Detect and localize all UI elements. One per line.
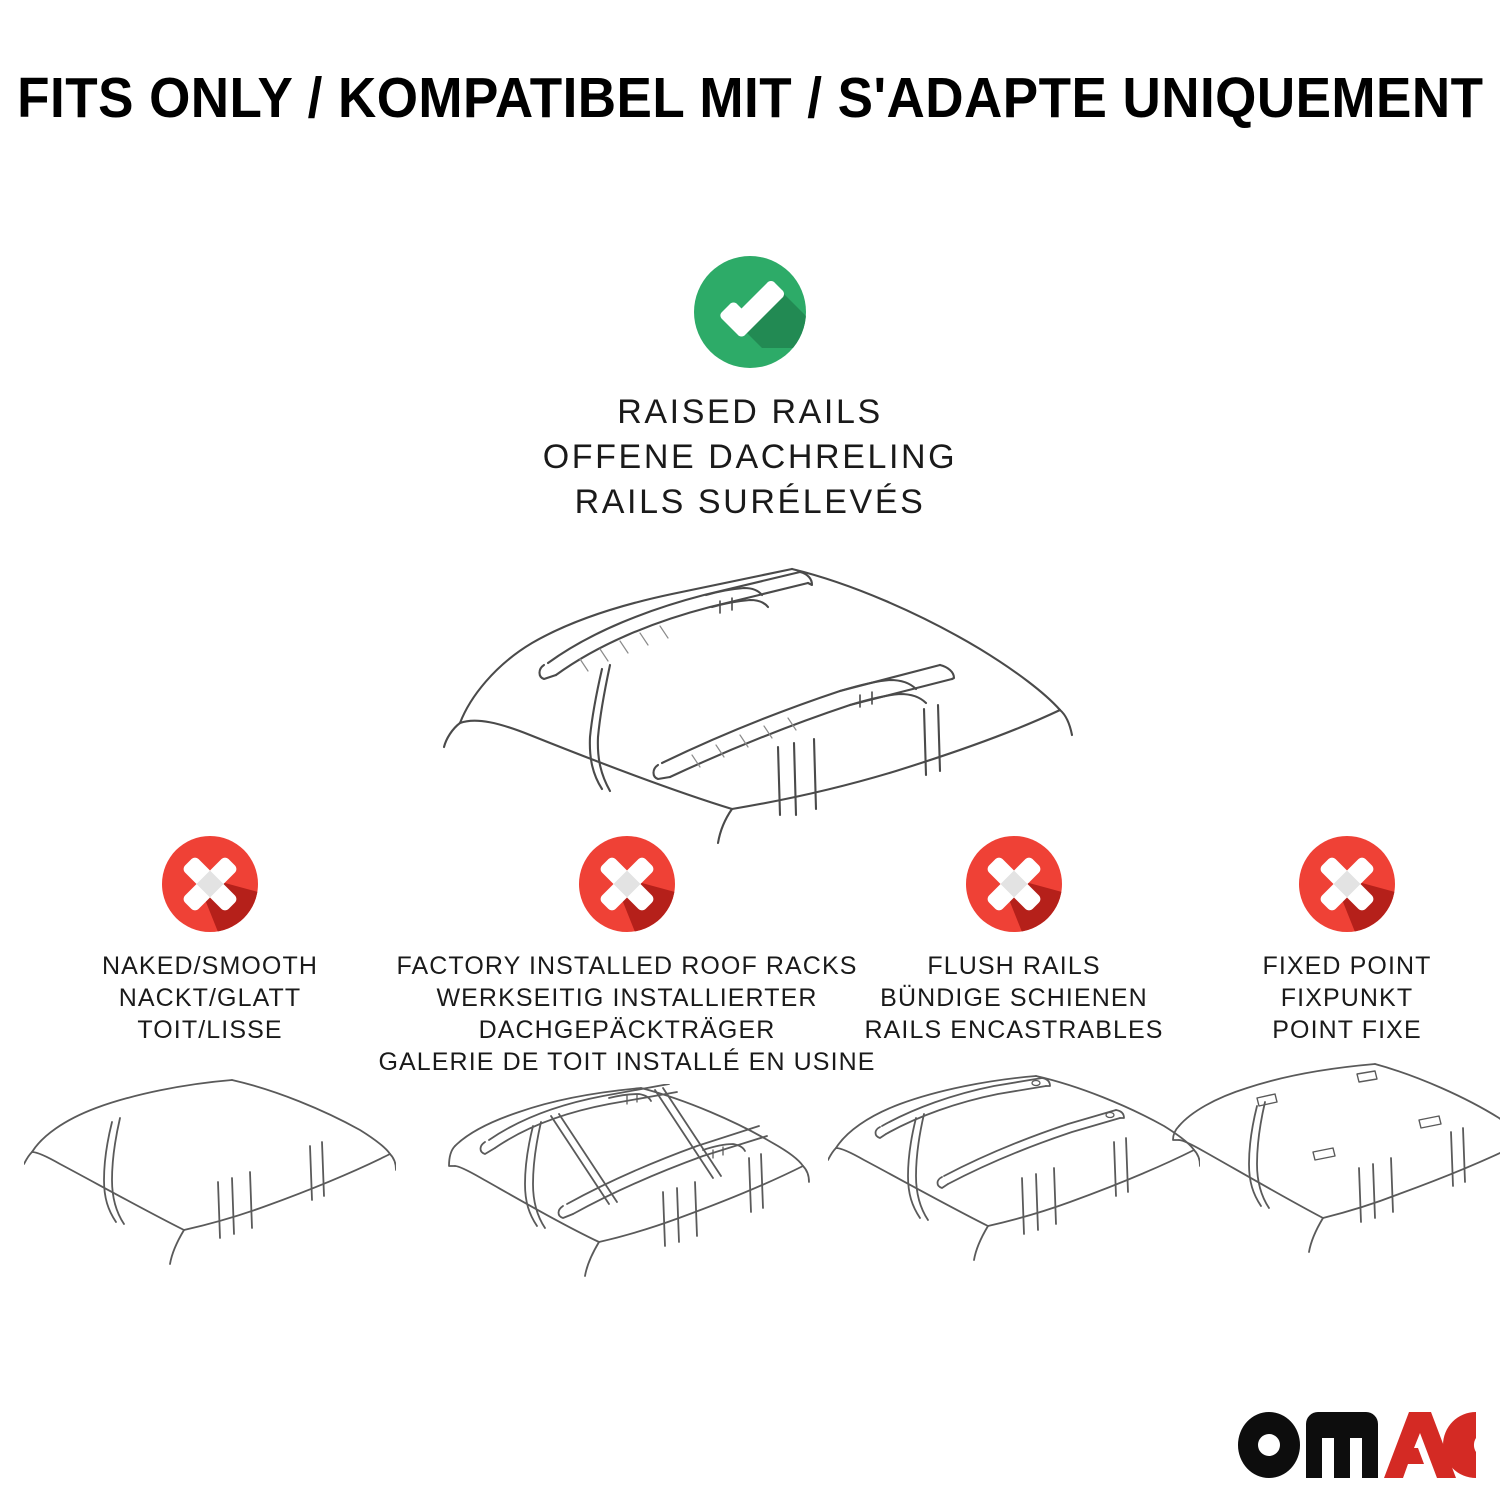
green-check-circle-icon [694,256,806,368]
incompatible-item-naked-smooth: NAKED/SMOOTH NACKT/GLATT TOIT/LISSE [0,836,420,1310]
label-en: FLUSH RAILS [864,950,1163,982]
header-banner: FITS ONLY / KOMPATIBEL MIT / S'ADAPTE UN… [0,0,1500,196]
fixed-point-labels: FIXED POINT FIXPUNKT POINT FIXE [1262,950,1431,1054]
factory-roof-rack-labels: FACTORY INSTALLED ROOF RACKS WERKSEITIG … [378,950,875,1078]
red-x-circle-icon [966,836,1062,932]
page-title: FITS ONLY / KOMPATIBEL MIT / S'ADAPTE UN… [17,65,1483,131]
compatible-label-en: RAISED RAILS [543,390,957,435]
car-roof-fixed-point-illustration [1171,1060,1500,1286]
label-de: NACKT/GLATT [102,982,318,1014]
compatible-label-fr: RAILS SURÉLEVÉS [543,480,957,525]
label-fr: TOIT/LISSE [102,1014,318,1046]
label-de-line1: WERKSEITIG INSTALLIERTER [378,982,875,1014]
omac-logo [1238,1412,1476,1478]
red-x-circle-icon [579,836,675,932]
incompatible-item-fixed-point: FIXED POINT FIXPUNKT POINT FIXE [1194,836,1500,1310]
label-fr: GALERIE DE TOIT INSTALLÉ EN USINE [378,1046,875,1078]
flush-rails-labels: FLUSH RAILS BÜNDIGE SCHIENEN RAILS ENCAS… [864,950,1163,1054]
incompatible-section: NAKED/SMOOTH NACKT/GLATT TOIT/LISSE [0,836,1500,1310]
label-de: BÜNDIGE SCHIENEN [864,982,1163,1014]
car-roof-with-raised-rails-illustration [420,547,1080,847]
label-de-line2: DACHGEPÄCKTRÄGER [378,1014,875,1046]
label-de: FIXPUNKT [1262,982,1431,1014]
label-fr: POINT FIXE [1262,1014,1431,1046]
incompatible-item-factory-roof-rack: FACTORY INSTALLED ROOF RACKS WERKSEITIG … [420,836,834,1310]
car-roof-factory-roof-rack-illustration [441,1084,813,1310]
compatible-labels: RAISED RAILS OFFENE DACHRELING RAILS SUR… [543,390,957,525]
car-roof-naked-smooth-illustration [24,1060,396,1286]
red-x-circle-icon [1299,836,1395,932]
compatible-section: RAISED RAILS OFFENE DACHRELING RAILS SUR… [0,256,1500,847]
label-en: FACTORY INSTALLED ROOF RACKS [378,950,875,982]
label-en: FIXED POINT [1262,950,1431,982]
label-en: NAKED/SMOOTH [102,950,318,982]
red-x-circle-icon [162,836,258,932]
car-roof-flush-rails-illustration [828,1060,1200,1286]
incompatible-item-flush-rails: FLUSH RAILS BÜNDIGE SCHIENEN RAILS ENCAS… [834,836,1194,1310]
naked-smooth-labels: NAKED/SMOOTH NACKT/GLATT TOIT/LISSE [102,950,318,1054]
label-fr: RAILS ENCASTRABLES [864,1014,1163,1046]
compatible-label-de: OFFENE DACHRELING [543,435,957,480]
